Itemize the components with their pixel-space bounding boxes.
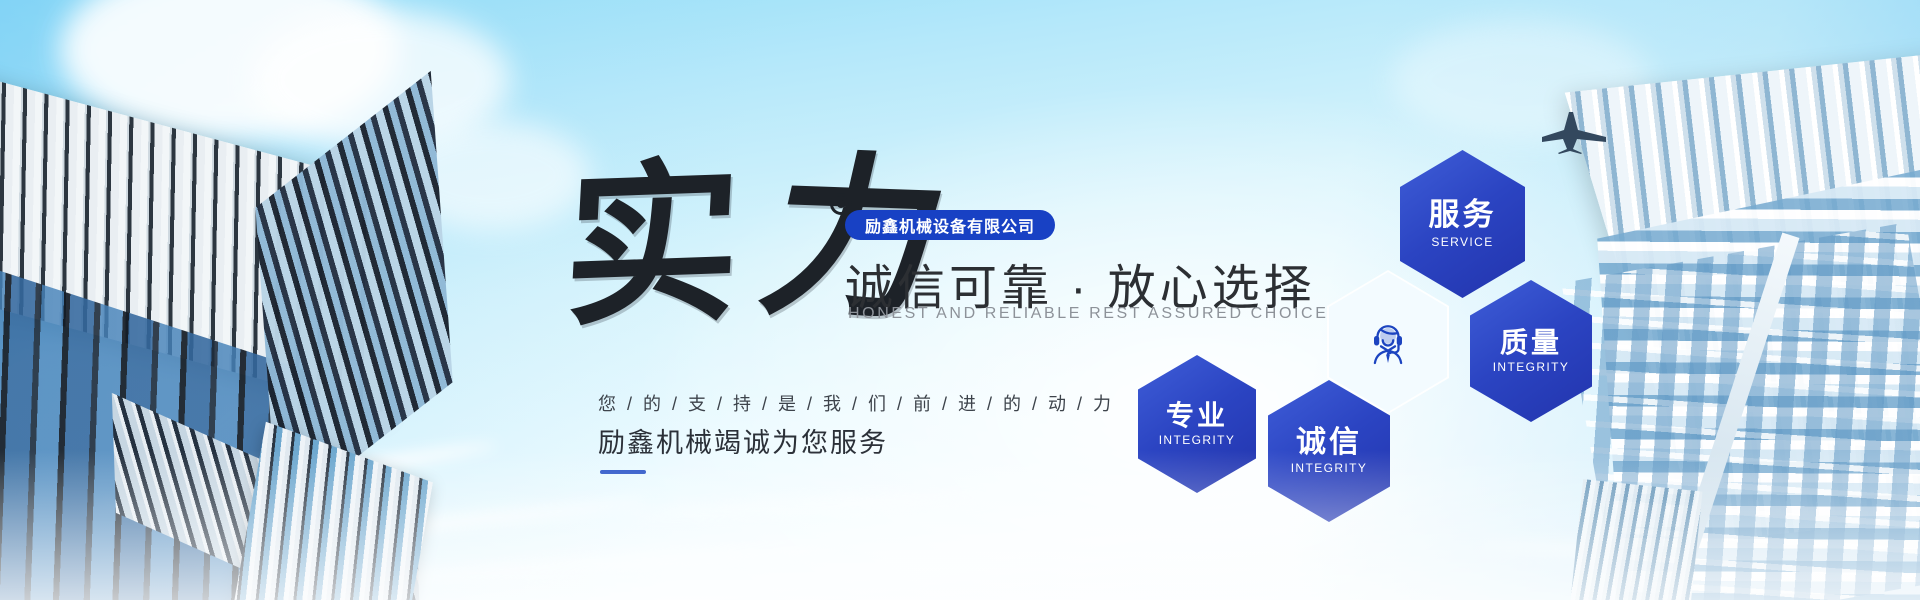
subtitle-split-text: 您 / 的 / 支 / 持 / 是 / 我 / 们 / 前 / 进 / 的 / … <box>598 390 1114 416</box>
hex-service[interactable]: 服务 SERVICE <box>1400 150 1525 298</box>
hex-professional-label-cn: 专业 <box>1166 401 1228 430</box>
calligraphy-char-1: 实 <box>559 141 739 352</box>
hex-service-label-en: SERVICE <box>1431 235 1493 249</box>
hero-banner: 实力 励鑫机械设备有限公司 诚信可靠 · 放心选择 HONEST AND REL… <box>0 0 1920 600</box>
circle-dot-icon <box>830 193 852 215</box>
hex-service-label-cn: 服务 <box>1429 199 1497 232</box>
company-name-badge: 励鑫机械设备有限公司 <box>845 210 1055 240</box>
bottom-haze <box>0 450 1920 600</box>
hex-quality-label-en: INTEGRITY <box>1493 360 1570 374</box>
hex-quality[interactable]: 质量 INTEGRITY <box>1470 280 1592 422</box>
hex-quality-label-cn: 质量 <box>1500 328 1562 357</box>
customer-service-agent-icon <box>1360 314 1416 370</box>
hex-professional-label-en: INTEGRITY <box>1159 433 1236 447</box>
